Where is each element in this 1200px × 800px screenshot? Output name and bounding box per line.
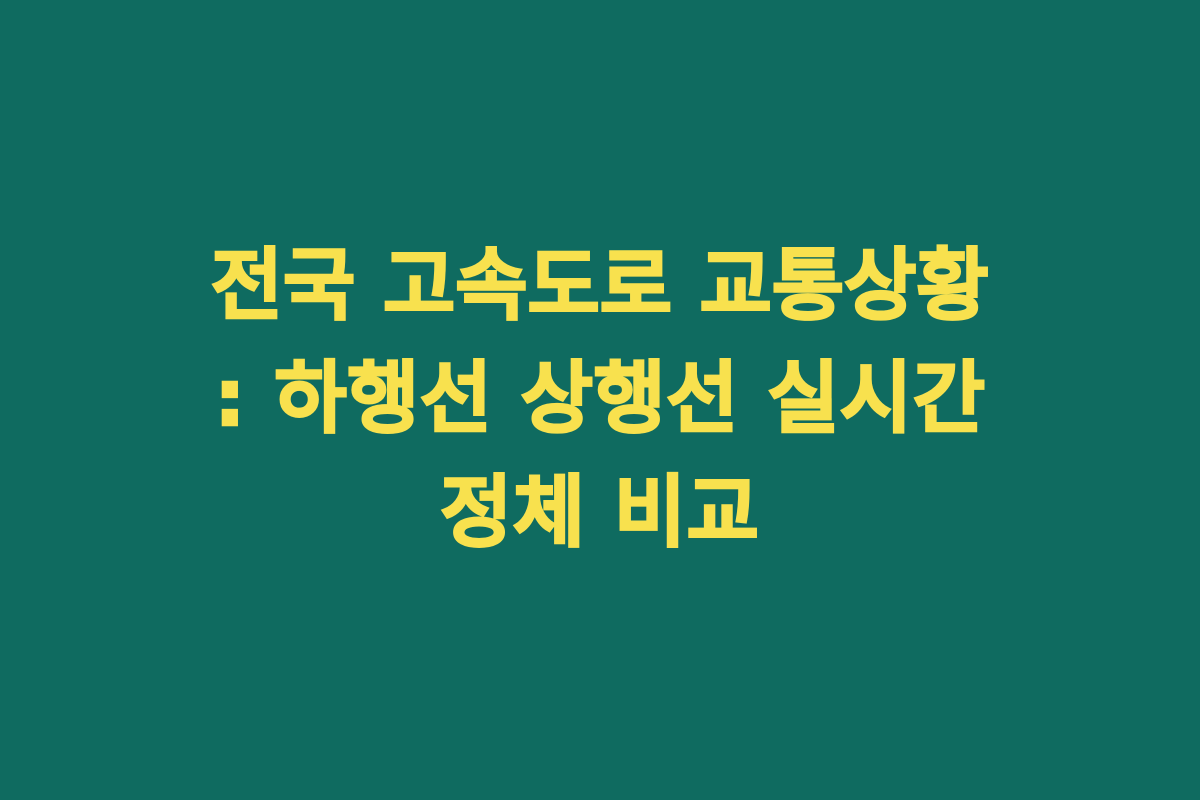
title-line-2: : 하행선 상행선 실시간 [60,343,1140,456]
page-title: 전국 고속도로 교통상황 : 하행선 상행선 실시간 정체 비교 [40,230,1160,569]
title-line-3: 정체 비교 [60,457,1140,570]
title-line-1: 전국 고속도로 교통상황 [60,230,1140,343]
title-card: 전국 고속도로 교통상황 : 하행선 상행선 실시간 정체 비교 [0,0,1200,800]
